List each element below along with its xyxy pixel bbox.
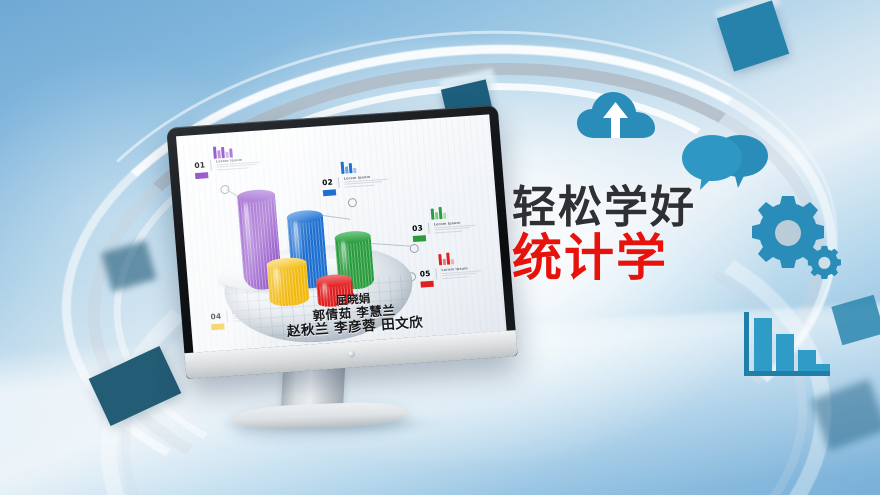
callout-number-03: 03: [412, 223, 423, 232]
monitor-bezel: 01 Lorem Ipsum: [166, 105, 517, 379]
callout-number-02: 02: [322, 177, 333, 186]
headline-block: 轻松学好 统计学: [512, 186, 696, 284]
slide-canvas: 01 Lorem Ipsum: [0, 0, 880, 495]
headline-line-2: 统计学: [512, 233, 696, 284]
callout-rule: [210, 160, 212, 171]
callout-swatch-05: [420, 281, 433, 288]
callout-mini-chart-05: [438, 251, 454, 265]
bar-chart-icon: [742, 308, 838, 390]
monitor-screen: 01 Lorem Ipsum: [176, 114, 507, 352]
callout-swatch-02: [323, 189, 336, 196]
speech-bubbles-icon: [682, 128, 770, 190]
cloud-upload-icon: [575, 88, 657, 148]
headline-line-1: 轻松学好: [512, 186, 696, 231]
callout-mini-chart-01: [213, 144, 233, 158]
callout-number-05: 05: [419, 269, 430, 278]
gears-icon: [748, 192, 848, 284]
callout-rule: [428, 223, 430, 234]
callout-mini-chart-02: [340, 160, 356, 174]
callout-rule: [435, 268, 437, 279]
callout-rule: [338, 177, 340, 188]
callout-swatch-03: [413, 235, 426, 242]
callout-swatch-01: [195, 172, 208, 179]
desktop-monitor: 01 Lorem Ipsum: [166, 105, 517, 379]
callout-number-01: 01: [194, 160, 205, 169]
callout-mini-chart-03: [430, 206, 446, 220]
callout-swatch-04: [211, 323, 224, 330]
callout-number-04: 04: [210, 312, 221, 321]
